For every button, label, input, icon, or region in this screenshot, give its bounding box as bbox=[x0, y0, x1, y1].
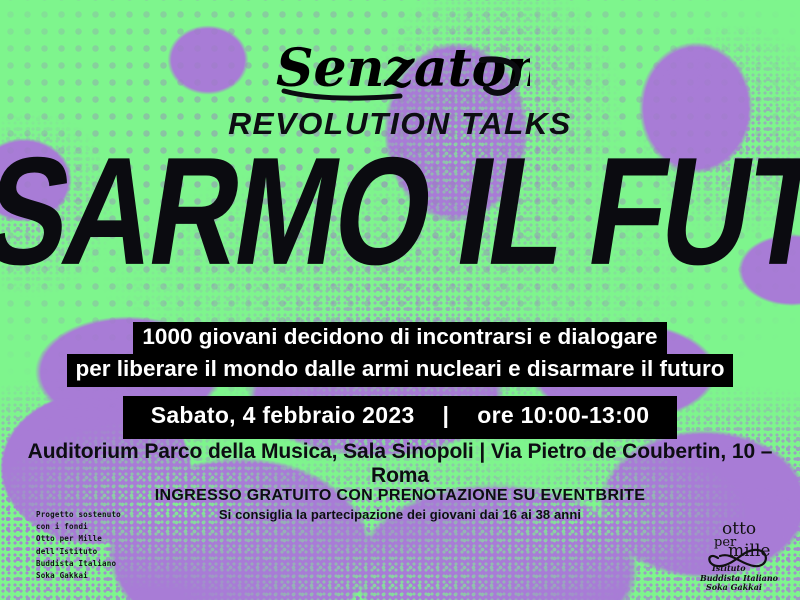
event-time: ore 10:00-13:00 bbox=[463, 399, 663, 434]
event-venue-address: Auditorium Parco della Musica, Sala Sino… bbox=[0, 440, 800, 488]
funding-credit-line: Buddista Italiano bbox=[36, 558, 121, 570]
funding-credit-line: Otto per Mille bbox=[36, 533, 121, 545]
strapline-second: per liberare il mondo dalle armi nuclear… bbox=[0, 354, 800, 387]
senzatomica-brand-logo: Senzatomica bbox=[0, 38, 800, 104]
funding-credit-line: Progetto sostenuto bbox=[36, 509, 121, 521]
poster-headline: IO DISARMO IL FUTURO bbox=[22, 150, 778, 275]
event-poster: Senzatomica REVOLUTION TALKS IO DISARMO … bbox=[0, 0, 800, 600]
opm-sub-istituto: Istituto bbox=[711, 563, 746, 573]
event-datetime-bar: Sabato, 4 febbraio 2023|ore 10:00-13:00 bbox=[0, 396, 800, 439]
strapline-first: 1000 giovani decidono di incontrarsi e d… bbox=[0, 322, 800, 355]
event-datetime-text: Sabato, 4 febbraio 2023|ore 10:00-13:00 bbox=[123, 396, 678, 439]
datetime-separator: | bbox=[429, 399, 464, 434]
event-date: Sabato, 4 febbraio 2023 bbox=[137, 399, 429, 434]
otto-per-mille-logo: otto per mille Istituto Buddista Italian… bbox=[688, 512, 784, 592]
opm-sub-soka-gakkai: Soka Gakkai bbox=[706, 582, 762, 592]
headline-text: IO DISARMO IL FUTURO bbox=[0, 142, 800, 283]
funding-credit-line: con i fondi bbox=[36, 521, 121, 533]
admission-notice: INGRESSO GRATUITO CON PRENOTAZIONE SU EV… bbox=[0, 487, 800, 505]
strapline-second-text: per liberare il mondo dalle armi nuclear… bbox=[67, 354, 734, 387]
funding-credit-block: Progetto sostenuto con i fondi Otto per … bbox=[36, 509, 121, 582]
funding-credit-line: dell'Istituto bbox=[36, 546, 121, 558]
strapline-first-text: 1000 giovani decidono di incontrarsi e d… bbox=[133, 322, 666, 355]
funding-credit-line: Soka Gakkai bbox=[36, 570, 121, 582]
opm-line-mille: mille bbox=[728, 541, 771, 561]
